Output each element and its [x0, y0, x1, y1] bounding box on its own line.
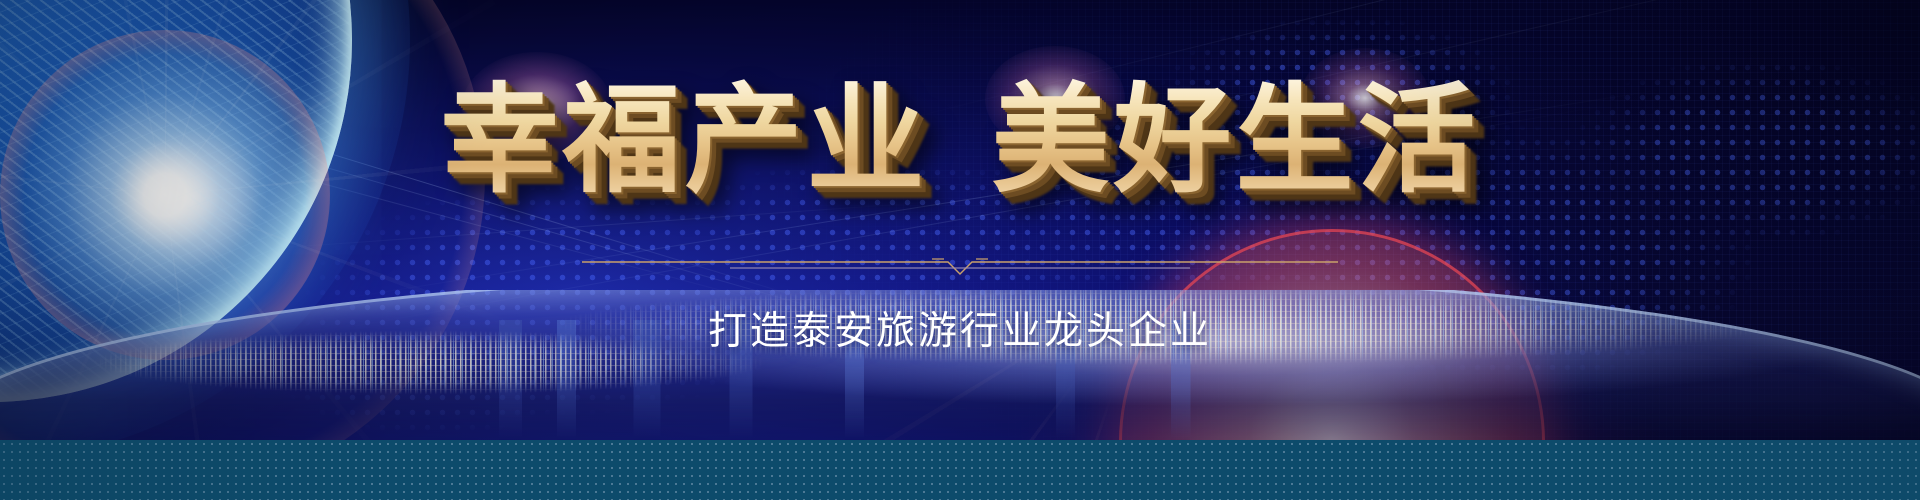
v-notch-divider-ornament-icon — [580, 252, 1340, 278]
headline-part-1: 幸福产业 — [441, 78, 929, 205]
hero-banner: 幸福产业 美好生活 打造泰安旅游行业龙头企业 — [0, 0, 1920, 500]
divider-svg — [580, 252, 1340, 278]
bottom-bar-tint — [0, 440, 1920, 500]
subtitle-text: 打造泰安旅游行业龙头企业 — [708, 310, 1212, 353]
bottom-bar — [0, 440, 1920, 500]
headline-part-2: 美好生活 — [991, 78, 1479, 205]
headline: 幸福产业 美好生活 — [0, 78, 1920, 205]
subtitle: 打造泰安旅游行业龙头企业 — [0, 300, 1920, 356]
